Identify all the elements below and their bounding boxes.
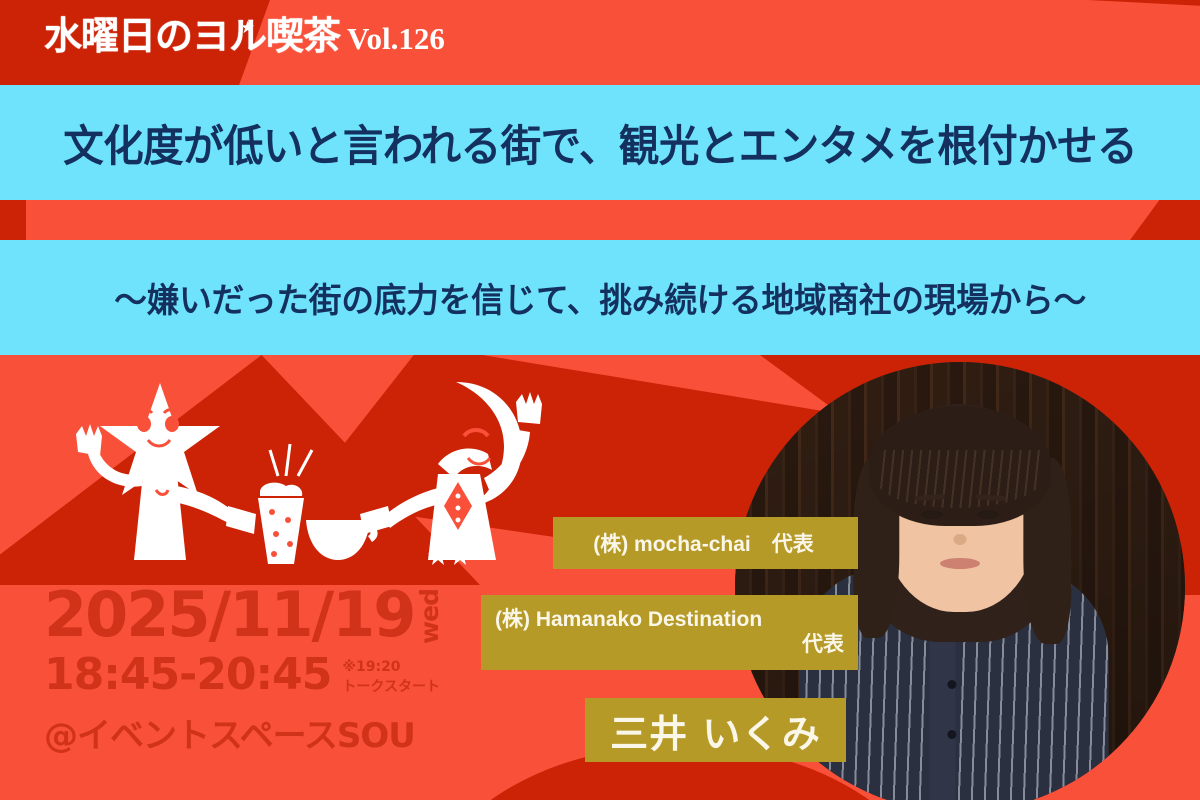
speaker-org-1: (株) mocha-chai 代表 [553,517,858,569]
series-title: 水曜日のヨル喫茶 [44,17,340,55]
speaker-org-2: (株) Hamanako Destination 代表 [481,595,858,670]
event-flyer: 水曜日のヨル喫茶 ★ Vol.126 文化度が低いと言われる街で、観光とエンタメ… [0,0,1200,800]
subtitle: 〜嫌いだった街の底力を信じて、挑み続ける地域商社の現場から〜 [114,273,1086,322]
main-title: 文化度が低いと言われる街で、観光とエンタメを根付かせる [63,112,1137,174]
divider-shape-left [0,200,26,240]
portrait-button [947,730,956,739]
portrait-eye-right [977,510,999,519]
event-note-line1: ※19:20 [342,659,400,675]
speaker-org-2-line2: 代表 [495,633,844,657]
star-icon: ★ [240,19,255,36]
event-day-of-week: wed [417,589,442,644]
header-band: 水曜日のヨル喫茶 ★ Vol.126 [0,0,1200,85]
event-time-note: ※19:20 トークスタート [342,657,440,698]
event-time: 18:45-20:45 [44,653,331,697]
divider-band [0,200,1200,240]
portrait-mouth [940,558,980,569]
header-accent-shape-right [700,0,1200,85]
volume-label: Vol.126 [347,23,445,55]
event-venue: @イベントスペースSOU [44,708,442,757]
character-illustration [60,378,560,573]
divider-shape-right [1130,200,1200,240]
sparkle-icon [270,444,312,476]
iced-drink-icon [258,483,304,564]
subtitle-band: 〜嫌いだった街の底力を信じて、挑み続ける地域商社の現場から〜 [0,240,1200,355]
event-date: 2025/11/19 [44,585,414,646]
speaker-org-2-line1: (株) Hamanako Destination [495,608,844,632]
portrait-eye-left [921,510,943,519]
portrait-button [947,680,956,689]
portrait-nose [954,534,967,545]
event-date-row: 2025/11/19 wed [44,585,442,646]
speaker-name: 三井 いくみ [585,698,846,762]
title-band: 文化度が低いと言われる街で、観光とエンタメを根付かせる [0,85,1200,200]
event-note-line2: トークスタート [342,679,440,695]
series-logo: 水曜日のヨル喫茶 ★ Vol.126 [44,17,445,55]
event-details: 2025/11/19 wed 18:45-20:45 ※19:20 トークスター… [44,585,442,757]
event-time-row: 18:45-20:45 ※19:20 トークスタート [44,653,442,698]
